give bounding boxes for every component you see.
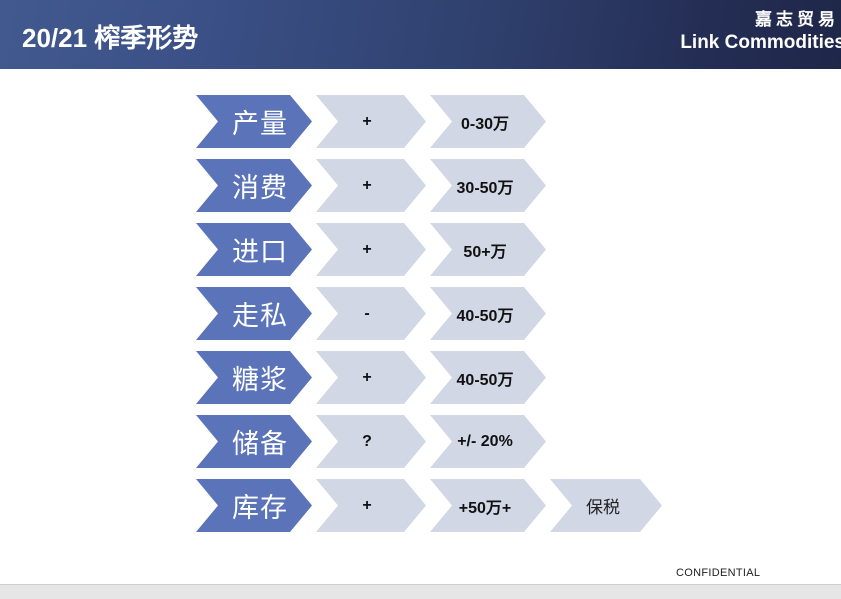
- chevron-row: 糖浆 + 40-50万: [196, 351, 662, 404]
- chevron-row: 消费 + 30-50万: [196, 159, 662, 212]
- chevron-value: +/- 20%: [430, 415, 546, 468]
- chevron-sign: +: [316, 223, 426, 276]
- chevron-value-text: +50万+: [430, 479, 546, 532]
- chevron-extra-text: 保税: [550, 479, 662, 532]
- chevron-sign-text: +: [316, 223, 426, 276]
- chevron-sign-text: +: [316, 159, 426, 212]
- chevron-value-text: 40-50万: [430, 287, 546, 340]
- chevron-label: 产量: [196, 95, 312, 148]
- chevron-sign: +: [316, 159, 426, 212]
- chevron-label: 走私: [196, 287, 312, 340]
- chevron-label: 糖浆: [196, 351, 312, 404]
- chevron-sign: +: [316, 95, 426, 148]
- footer-band: [0, 584, 841, 599]
- chevron-value: 0-30万: [430, 95, 546, 148]
- chevron-sign: ?: [316, 415, 426, 468]
- chevron-value: 40-50万: [430, 351, 546, 404]
- chevron-value: 40-50万: [430, 287, 546, 340]
- chevron-extra: 保税: [550, 479, 662, 532]
- chevron-sign-text: +: [316, 479, 426, 532]
- chevron-label-text: 消费: [196, 159, 312, 212]
- company-logo: 嘉志贸易 Link Commodities: [680, 10, 841, 54]
- chevron-label-text: 糖浆: [196, 351, 312, 404]
- logo-english-name: Link Commodities: [680, 32, 841, 54]
- chevron-value: 30-50万: [430, 159, 546, 212]
- chevron-label: 储备: [196, 415, 312, 468]
- chevron-row: 走私 - 40-50万: [196, 287, 662, 340]
- chevron-sign-text: +: [316, 95, 426, 148]
- chevron-value-text: 40-50万: [430, 351, 546, 404]
- logo-chinese-name: 嘉志贸易: [680, 10, 841, 30]
- chevron-sign: +: [316, 351, 426, 404]
- chevron-label: 进口: [196, 223, 312, 276]
- chevron-label-text: 储备: [196, 415, 312, 468]
- chevron-sign-text: ?: [316, 415, 426, 468]
- chevron-label-text: 库存: [196, 479, 312, 532]
- chevron-value-text: 0-30万: [430, 95, 546, 148]
- chevron-value-text: 50+万: [430, 223, 546, 276]
- chevron-row: 储备 ? +/- 20%: [196, 415, 662, 468]
- chevron-sign: +: [316, 479, 426, 532]
- chevron-label-text: 走私: [196, 287, 312, 340]
- chevron-row: 库存 + +50万+ 保税: [196, 479, 662, 532]
- chevron-value: 50+万: [430, 223, 546, 276]
- chevron-value-text: 30-50万: [430, 159, 546, 212]
- chevron-label: 消费: [196, 159, 312, 212]
- chevron-value: +50万+: [430, 479, 546, 532]
- chevron-value-text: +/- 20%: [430, 415, 546, 468]
- chevron-diagram: 产量 + 0-30万 消费 + 30-50万 进口: [196, 95, 662, 543]
- chevron-row: 产量 + 0-30万: [196, 95, 662, 148]
- slide-header-band: 20/21 榨季形势 嘉志贸易 Link Commodities: [0, 0, 841, 69]
- slide-canvas: 20/21 榨季形势 嘉志贸易 Link Commodities 产量 + 0-…: [0, 0, 841, 599]
- chevron-label-text: 进口: [196, 223, 312, 276]
- chevron-sign-text: +: [316, 351, 426, 404]
- chevron-label: 库存: [196, 479, 312, 532]
- chevron-label-text: 产量: [196, 95, 312, 148]
- chevron-row: 进口 + 50+万: [196, 223, 662, 276]
- page-title: 20/21 榨季形势: [22, 18, 198, 55]
- chevron-sign-text: -: [316, 287, 426, 340]
- confidential-label: CONFIDENTIAL: [676, 567, 760, 579]
- chevron-sign: -: [316, 287, 426, 340]
